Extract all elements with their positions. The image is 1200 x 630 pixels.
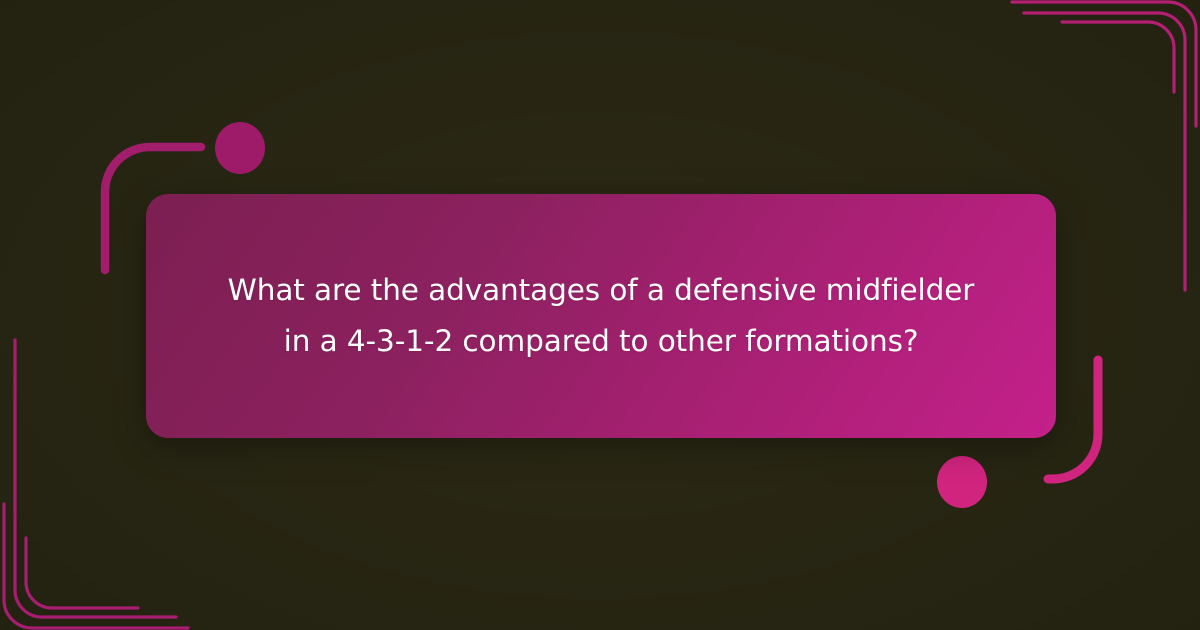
question-text: What are the advantages of a defensive m… (210, 265, 992, 368)
question-card: What are the advantages of a defensive m… (146, 194, 1056, 438)
question-card-canvas: What are the advantages of a defensive m… (0, 0, 1200, 630)
